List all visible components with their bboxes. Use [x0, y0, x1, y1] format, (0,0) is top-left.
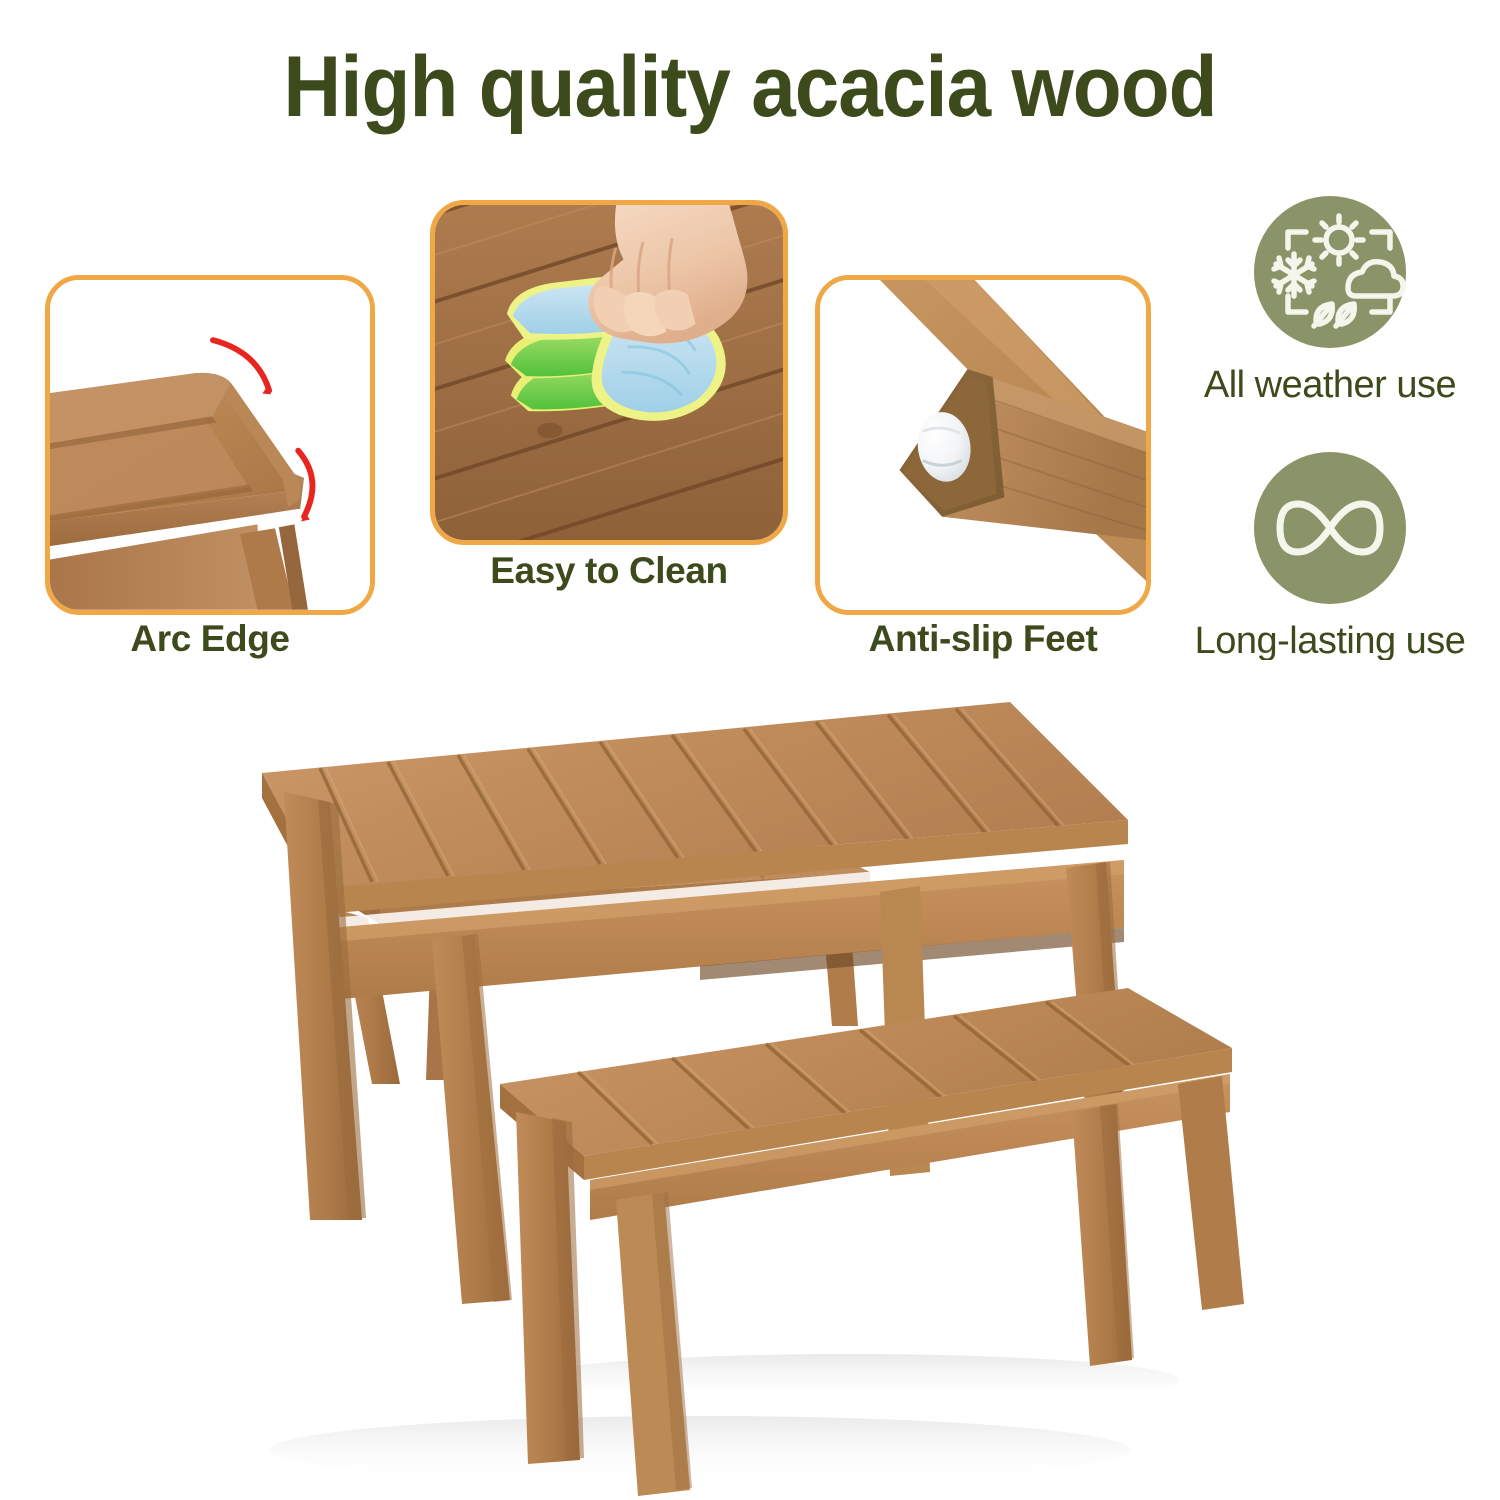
badge-label-all-weather-use: All weather use: [1160, 364, 1500, 407]
feature-panel-easy-to-clean: [430, 200, 788, 545]
weather-sun-snow-cloud-leaf-icon: [1254, 196, 1406, 348]
badge-all-weather-use: All weather use: [1160, 196, 1500, 407]
feature-panel-arc-edge: [45, 275, 375, 615]
easy-to-clean-photo: [435, 205, 783, 540]
badge-circle-all-weather: [1254, 196, 1406, 348]
anti-slip-feet-photo: [820, 280, 1146, 610]
badge-circle-long-lasting: [1254, 452, 1406, 604]
feature-caption-arc-edge: Arc Edge: [45, 618, 375, 660]
feature-caption-anti-slip-feet: Anti-slip Feet: [815, 618, 1151, 660]
infographic-page: High quality acacia wood: [0, 0, 1500, 1500]
badge-label-long-lasting-use: Long-lasting use: [1160, 620, 1500, 663]
page-title: High quality acacia wood: [53, 42, 1448, 132]
infinity-icon: [1254, 452, 1406, 604]
acacia-table-and-benches-illustration: [0, 660, 1500, 1500]
feature-caption-easy-to-clean: Easy to Clean: [430, 550, 788, 592]
badge-long-lasting-use: Long-lasting use: [1160, 452, 1500, 663]
arc-edge-photo: [50, 280, 370, 610]
feature-panel-anti-slip-feet: [815, 275, 1151, 615]
product-image: [0, 660, 1500, 1500]
